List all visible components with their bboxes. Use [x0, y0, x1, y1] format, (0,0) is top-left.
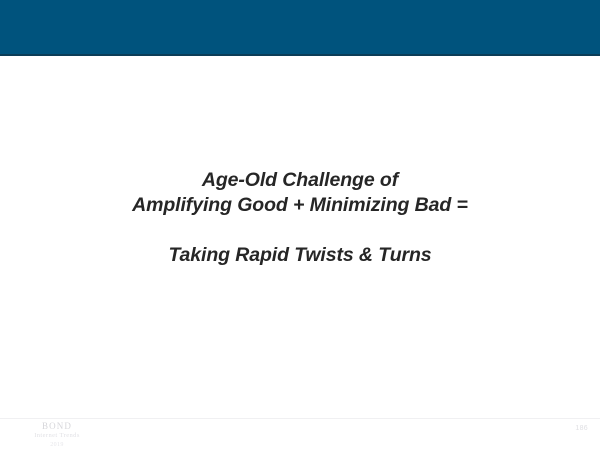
- bond-logo: BOND Internet Trends 2019: [14, 422, 100, 448]
- page-number: 186: [575, 425, 588, 432]
- top-band-edge-line: [0, 54, 600, 56]
- bond-logo-year: 2019: [14, 442, 100, 448]
- top-decorative-band: [0, 0, 600, 56]
- title-line-1: Age-Old Challenge of: [0, 168, 600, 193]
- footer-divider: [0, 418, 600, 419]
- slide-canvas: Age-Old Challenge of Amplifying Good + M…: [0, 0, 600, 450]
- title-line-2: Amplifying Good + Minimizing Bad =: [0, 193, 600, 218]
- slide-title-block: Age-Old Challenge of Amplifying Good + M…: [0, 168, 600, 268]
- title-line-spacer: [0, 218, 600, 243]
- bond-logo-name: BOND: [14, 422, 100, 431]
- title-line-3: Taking Rapid Twists & Turns: [0, 243, 600, 268]
- bond-logo-subtitle: Internet Trends: [14, 433, 100, 440]
